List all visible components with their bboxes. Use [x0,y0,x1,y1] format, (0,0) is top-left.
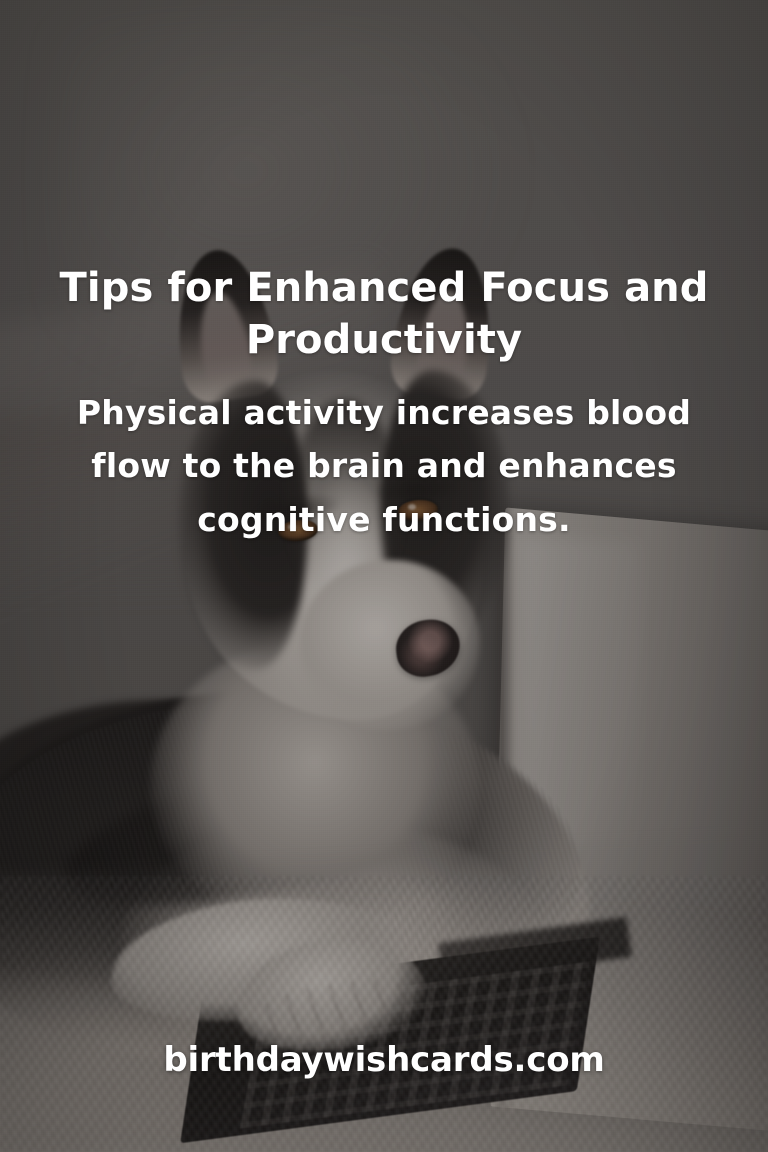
headline: Tips for Enhanced Focus and Productivity [40,262,728,366]
subheadline: Physical activity increases blood flow t… [40,386,728,546]
text-layer: Tips for Enhanced Focus and Productivity… [0,0,768,1152]
site-watermark: birthdaywishcards.com [0,1040,768,1080]
social-quote-card: Tips for Enhanced Focus and Productivity… [0,0,768,1152]
